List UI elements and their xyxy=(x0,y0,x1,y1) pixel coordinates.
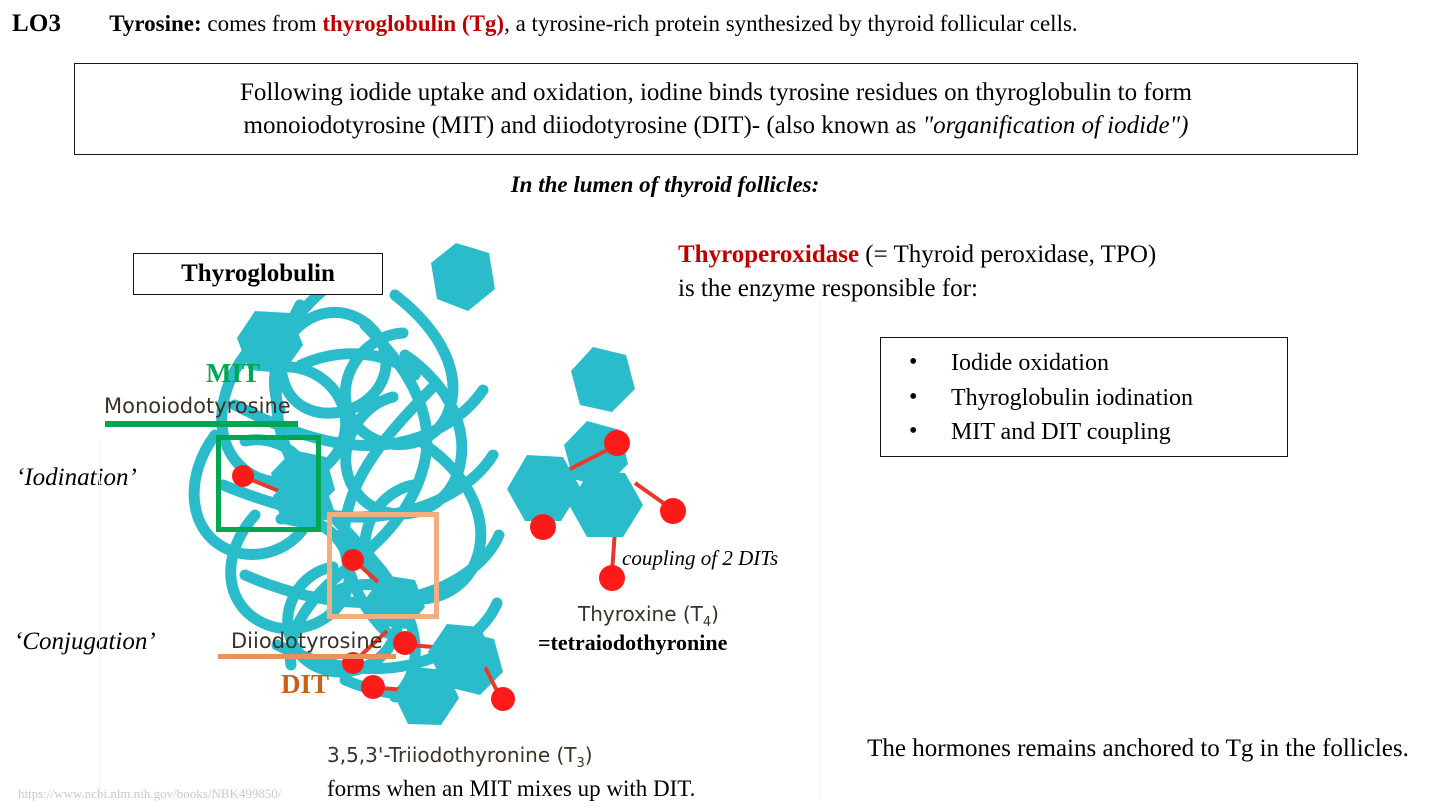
dit-abbreviation-label: DIT xyxy=(240,669,370,700)
dit-full-name-label: Diiodotyrosine xyxy=(231,629,383,653)
thyroperoxidase-heading: Thyroperoxidase (= Thyroid peroxidase, T… xyxy=(678,238,1378,305)
header-term: Tyrosine: xyxy=(109,11,201,36)
header-highlight-thyroglobulin: thyroglobulin (Tg) xyxy=(322,11,504,36)
list-item: Iodide oxidation xyxy=(909,346,1287,381)
list-item: MIT and DIT coupling xyxy=(909,415,1287,450)
coupling-annotation: coupling of 2 DITs xyxy=(622,546,778,571)
thyroglobulin-label-box: Thyroglobulin xyxy=(133,253,383,295)
lo-label: LO3 xyxy=(12,10,61,38)
dit-underline-bar xyxy=(218,654,396,659)
thyroxine-close-paren: ) xyxy=(711,602,719,626)
tpo-functions-list: Iodide oxidation Thyroglobulin iodinatio… xyxy=(881,346,1287,450)
statement-line-2-italic: "organification of iodide") xyxy=(923,112,1189,139)
statement-line-2-plain: monoiodotyrosine (MIT) and diiodotyrosin… xyxy=(244,112,923,139)
source-url-text: https://www.ncbi.nlm.nih.gov/books/NBK49… xyxy=(18,786,282,802)
thyroperoxidase-alias: (= Thyroid peroxidase, TPO) xyxy=(859,241,1156,268)
mit-highlight-rectangle xyxy=(216,435,321,532)
triiodothyronine-description: forms when an MIT mixes up with DIT. xyxy=(327,776,695,802)
header-text-before: comes from xyxy=(207,11,322,36)
thyroglobulin-label-text: Thyroglobulin xyxy=(181,260,335,288)
mit-abbreviation-label: MIT xyxy=(158,358,308,389)
lumen-subheading: In the lumen of thyroid follicles: xyxy=(0,172,1330,198)
triiodothyronine-subscript: 3 xyxy=(577,756,585,771)
thyroxine-subscript: 4 xyxy=(703,615,711,630)
guide-line-right xyxy=(820,300,821,800)
thyroglobulin-diagram xyxy=(95,235,715,735)
triiodothyronine-label-text: 3,5,3'-Triiodothyronine (T xyxy=(327,743,577,767)
header-row: LO3 Tyrosine: comes from thyroglobulin (… xyxy=(0,10,1440,50)
tetraiodothyronine-label: =tetraiodothyronine xyxy=(538,630,727,656)
header-sentence: Tyrosine: comes from thyroglobulin (Tg),… xyxy=(109,11,1077,37)
tpo-functions-box: Iodide oxidation Thyroglobulin iodinatio… xyxy=(880,337,1288,457)
header-text-after: , a tyrosine-rich protein synthesized by… xyxy=(504,11,1078,36)
mit-underline-bar xyxy=(105,421,298,427)
thyroxine-label-text: Thyroxine (T xyxy=(578,602,703,626)
list-item: Thyroglobulin iodination xyxy=(909,381,1287,416)
thyroxine-label: Thyroxine (T4) xyxy=(578,602,719,630)
statement-line-2: monoiodotyrosine (MIT) and diiodotyrosin… xyxy=(244,109,1189,142)
dit-highlight-rectangle xyxy=(327,512,439,619)
statement-line-1: Following iodide uptake and oxidation, i… xyxy=(240,76,1192,109)
mit-full-name-label: Monoiodotyrosine xyxy=(104,394,291,418)
hormone-anchor-note: The hormones remains anchored to Tg in t… xyxy=(845,733,1431,766)
triiodothyronine-label: 3,5,3'-Triiodothyronine (T3) xyxy=(327,743,593,771)
thyroperoxidase-heading-line-2: is the enzyme responsible for: xyxy=(678,272,1378,306)
thyroperoxidase-heading-line-1: Thyroperoxidase (= Thyroid peroxidase, T… xyxy=(678,238,1378,272)
triiodothyronine-close-paren: ) xyxy=(585,743,593,767)
statement-box: Following iodide uptake and oxidation, i… xyxy=(74,63,1358,155)
